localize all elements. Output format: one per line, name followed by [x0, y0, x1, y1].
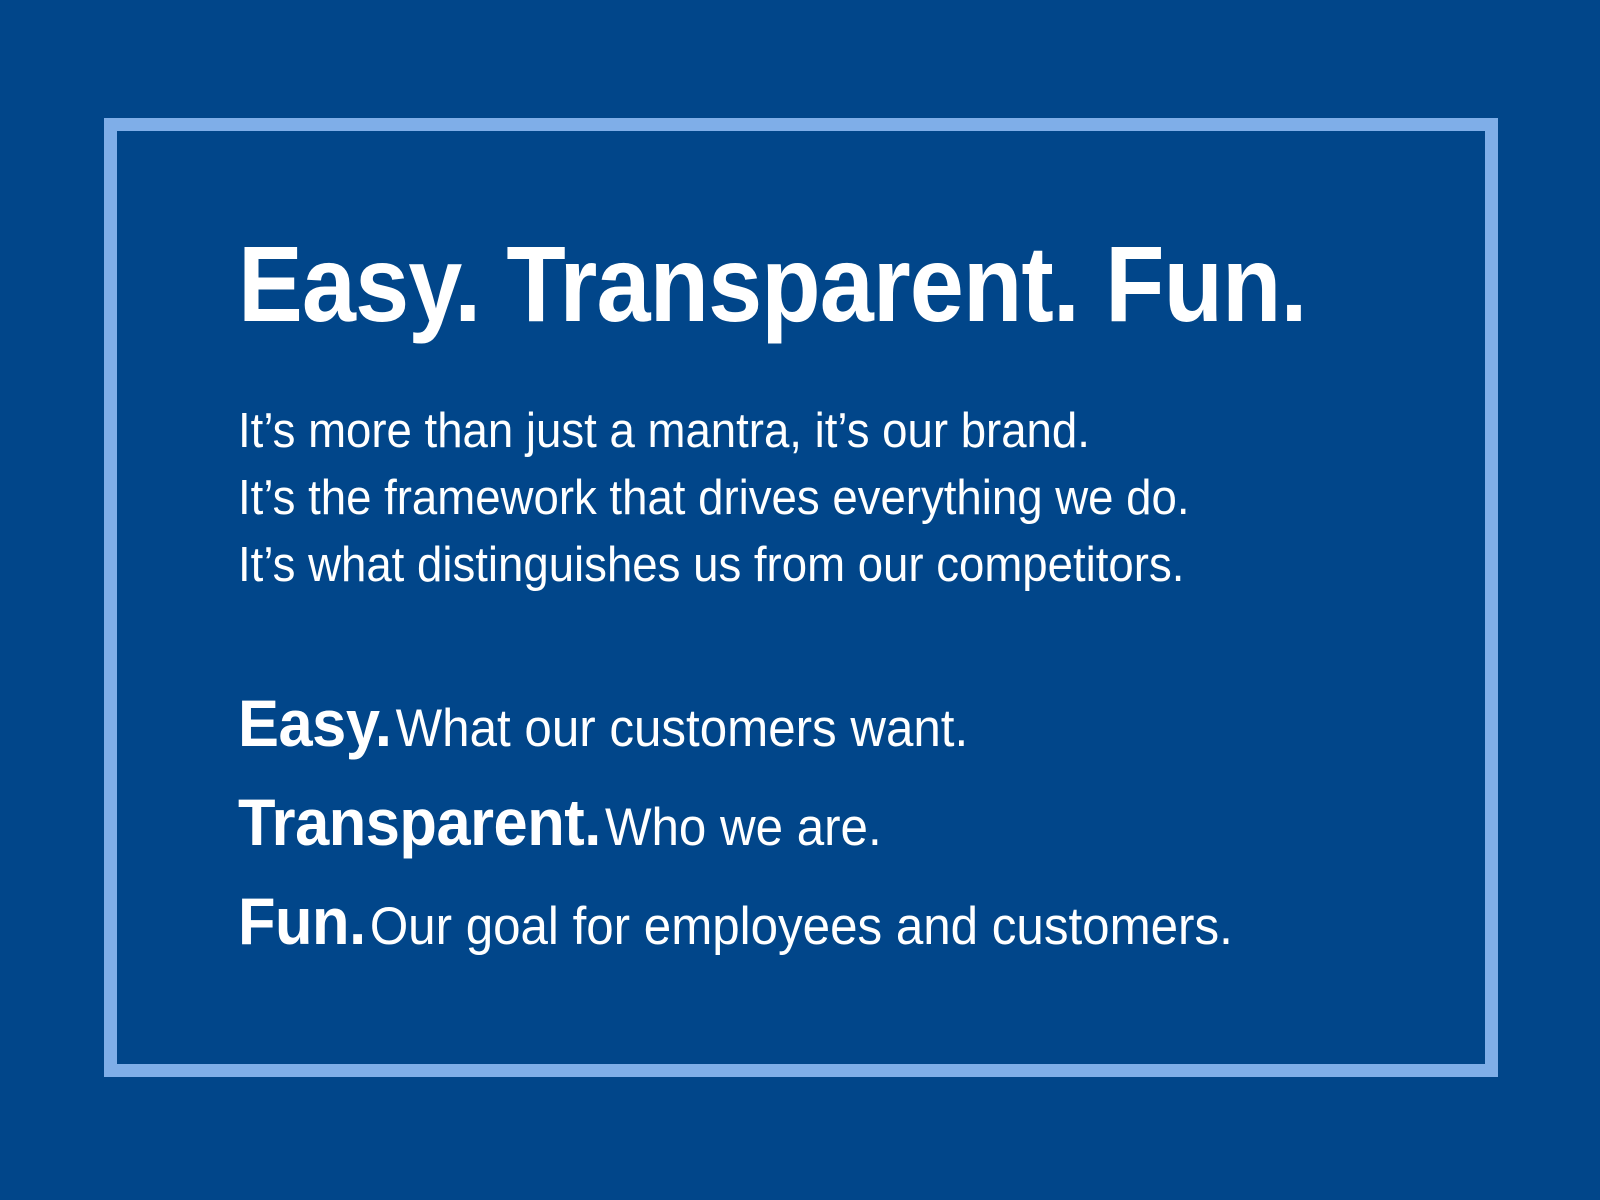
definition-description-easy: What our customers want.: [396, 699, 969, 758]
definition-item-fun: Fun. Our goal for employees and customer…: [238, 881, 1335, 980]
intro-paragraph: It’s more than just a mantra, it’s our b…: [238, 398, 1335, 599]
definition-item-transparent: Transparent. Who we are.: [238, 782, 1335, 881]
definition-description-fun: Our goal for employees and customers.: [370, 897, 1233, 956]
intro-paragraph-line-3: It’s what distinguishes us from our comp…: [238, 532, 1335, 599]
definition-description-transparent: Who we are.: [605, 798, 882, 857]
definition-term-easy: Easy.: [238, 686, 392, 760]
definition-item-easy: Easy. What our customers want.: [238, 683, 1335, 782]
definition-term-transparent: Transparent.: [238, 785, 601, 859]
headline: Easy. Transparent. Fun.: [238, 228, 1300, 340]
intro-paragraph-line-2: It’s the framework that drives everythin…: [238, 465, 1335, 532]
intro-paragraph-line-1: It’s more than just a mantra, it’s our b…: [238, 398, 1335, 465]
slide-content: Easy. Transparent. Fun. It’s more than j…: [238, 228, 1418, 980]
brand-mantra-slide: Easy. Transparent. Fun. It’s more than j…: [0, 0, 1600, 1200]
definition-term-fun: Fun.: [238, 884, 366, 958]
definition-list: Easy. What our customers want. Transpare…: [238, 683, 1335, 980]
